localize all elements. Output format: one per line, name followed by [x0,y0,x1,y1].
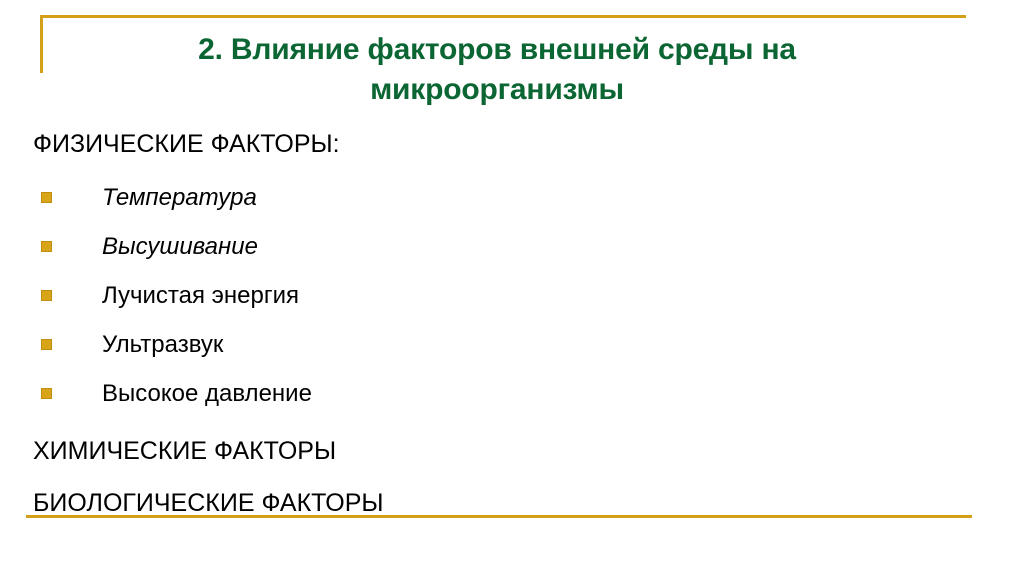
list-item: Ультразвук [0,320,1024,369]
slide-title-line-2: микроорганизмы [112,70,882,110]
left-gold-rule [40,15,43,73]
square-bullet-icon [41,388,52,399]
list-item-label: Высокое давление [102,369,312,418]
square-bullet-icon [41,290,52,301]
slide-body: ФИЗИЧЕСКИЕ ФАКТОРЫ: Температура Высушива… [0,128,1024,520]
top-gold-rule [40,15,966,18]
list-item: Температура [0,173,1024,222]
list-item-label: Лучистая энергия [102,271,299,320]
list-item-label: Температура [102,173,257,222]
list-item: Лучистая энергия [0,271,1024,320]
heading-chemical-factors: ХИМИЧЕСКИЕ ФАКТОРЫ [33,435,1024,468]
list-item: Высушивание [0,222,1024,271]
presentation-slide: 2. Влияние факторов внешней среды на мик… [0,0,1024,574]
bottom-gold-rule [26,515,972,518]
physical-factors-list: Температура Высушивание Лучистая энергия… [0,173,1024,418]
list-item: Высокое давление [0,369,1024,418]
slide-title-line-1: 2. Влияние факторов внешней среды на [112,30,882,70]
square-bullet-icon [41,241,52,252]
heading-physical-factors: ФИЗИЧЕСКИЕ ФАКТОРЫ: [33,128,1024,161]
list-item-label: Высушивание [102,222,258,271]
square-bullet-icon [41,339,52,350]
square-bullet-icon [41,192,52,203]
slide-title: 2. Влияние факторов внешней среды на мик… [112,30,882,110]
list-item-label: Ультразвук [102,320,223,369]
